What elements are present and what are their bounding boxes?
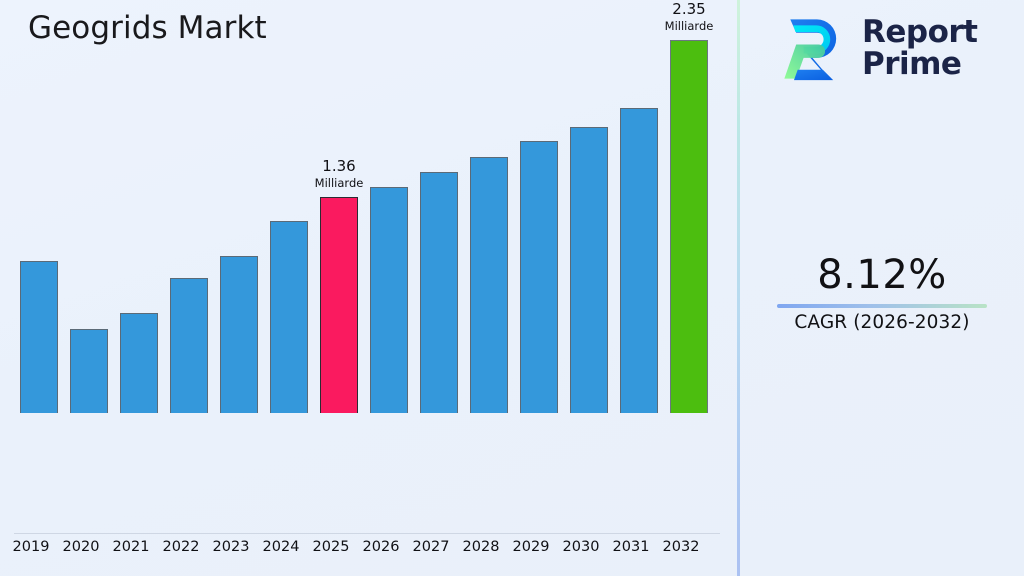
x-tick-2020: 2020 (54, 539, 108, 555)
cagr-block: 8.12% CAGR (2026-2032) (740, 252, 1024, 333)
bar-2027[interactable] (420, 172, 458, 413)
report-prime-logo-icon (774, 12, 848, 86)
bar-2029[interactable] (520, 141, 558, 413)
x-tick-2029: 2029 (504, 539, 558, 555)
bar-2030[interactable] (570, 127, 608, 413)
bar-2019[interactable] (20, 261, 58, 413)
bar-rect-2021[interactable] (120, 313, 158, 413)
chart-panel: Geogrids Markt 1.36Milliarde2.35Milliard… (0, 0, 738, 576)
brand-wordmark: Report Prime (862, 17, 978, 80)
bar-2022[interactable] (170, 278, 208, 413)
bar-2021[interactable] (120, 313, 158, 413)
bar-rect-2026[interactable] (370, 187, 408, 413)
brand-logo: Report Prime (774, 12, 978, 86)
bar-rect-2030[interactable] (570, 127, 608, 413)
x-tick-2026: 2026 (354, 539, 408, 555)
x-tick-2025: 2025 (304, 539, 358, 555)
x-tick-2019: 2019 (4, 539, 58, 555)
bar-2025[interactable]: 1.36Milliarde (320, 197, 358, 413)
bar-rect-2024[interactable] (270, 221, 308, 413)
bar-2024[interactable] (270, 221, 308, 413)
page-title: Geogrids Markt (28, 10, 267, 46)
bar-rect-2028[interactable] (470, 157, 508, 413)
bar-rect-2019[interactable] (20, 261, 58, 413)
infographic-root: Geogrids Markt 1.36Milliarde2.35Milliard… (0, 0, 1024, 576)
bar-2031[interactable] (620, 108, 658, 413)
bar-2020[interactable] (70, 329, 108, 413)
bar-rect-2031[interactable] (620, 108, 658, 413)
bar-label-2032: 2.35Milliarde (634, 2, 744, 32)
bar-rect-2020[interactable] (70, 329, 108, 413)
bar-label-2025: 1.36Milliarde (284, 159, 394, 189)
bar-rect-2032[interactable] (670, 40, 708, 413)
bar-2028[interactable] (470, 157, 508, 413)
bar-rect-2022[interactable] (170, 278, 208, 413)
side-panel: Report Prime 8.12% CAGR (2026-2032) (740, 0, 1024, 576)
bar-rect-2025[interactable] (320, 197, 358, 413)
x-tick-2023: 2023 (204, 539, 258, 555)
bar-chart-plot: 1.36Milliarde2.35Milliarde (0, 120, 738, 576)
x-axis-tick-labels: 2019202020212022202320242025202620272028… (0, 533, 738, 576)
bar-rect-2029[interactable] (520, 141, 558, 413)
bar-rect-2023[interactable] (220, 256, 258, 413)
x-tick-2031: 2031 (604, 539, 658, 555)
x-tick-2021: 2021 (104, 539, 158, 555)
x-tick-2030: 2030 (554, 539, 608, 555)
cagr-divider (777, 304, 987, 308)
x-tick-2032: 2032 (654, 539, 708, 555)
brand-wordmark-line1: Report (862, 17, 978, 49)
bar-2023[interactable] (220, 256, 258, 413)
bar-label-value-2025: 1.36 (284, 159, 394, 175)
bar-rect-2027[interactable] (420, 172, 458, 413)
x-tick-2024: 2024 (254, 539, 308, 555)
brand-wordmark-line2: Prime (862, 49, 978, 81)
cagr-caption: CAGR (2026-2032) (740, 312, 1024, 333)
bar-label-value-2032: 2.35 (634, 2, 744, 18)
cagr-value: 8.12% (740, 252, 1024, 298)
bar-2032[interactable]: 2.35Milliarde (670, 40, 708, 413)
bar-label-unit-2032: Milliarde (634, 20, 744, 32)
x-tick-2028: 2028 (454, 539, 508, 555)
x-tick-2022: 2022 (154, 539, 208, 555)
x-tick-2027: 2027 (404, 539, 458, 555)
bar-2026[interactable] (370, 187, 408, 413)
